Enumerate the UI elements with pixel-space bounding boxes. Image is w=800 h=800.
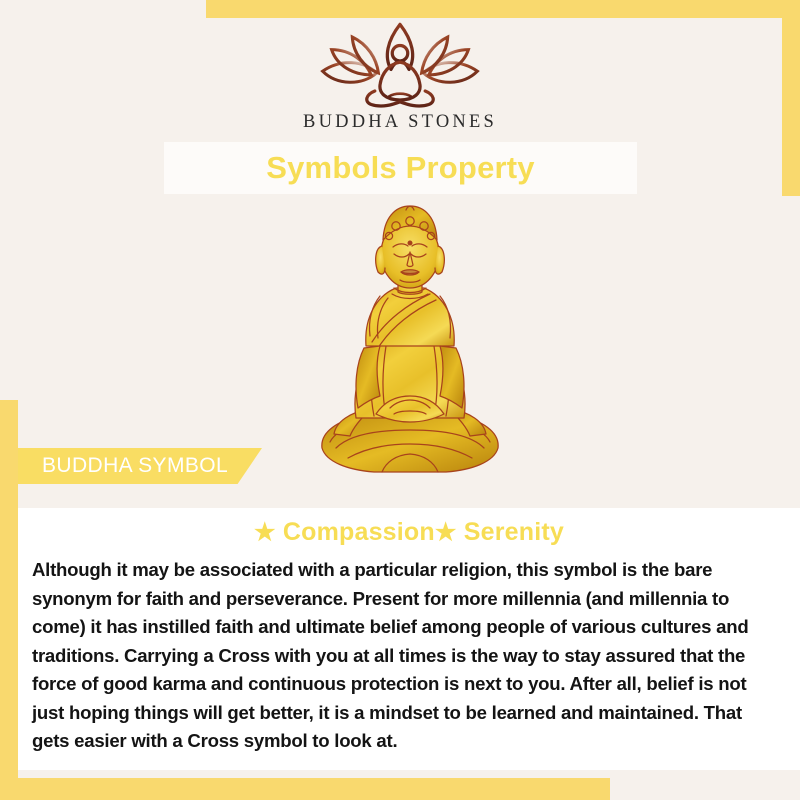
- description-paragraph: Although it may be associated with a par…: [32, 556, 782, 756]
- title-banner: Symbols Property: [164, 142, 637, 194]
- star-icon-right: ★: [435, 519, 457, 546]
- attribute-compassion: Compassion: [283, 518, 435, 546]
- buddha-illustration: [290, 196, 530, 496]
- star-icon-left: ★: [254, 519, 276, 546]
- brand-logo: BUDDHA STONES: [0, 18, 800, 133]
- attributes-subtitle: ★ Compassion★ Serenity: [18, 518, 800, 547]
- attribute-serenity: Serenity: [464, 518, 564, 546]
- poster-root: BUDDHA STONES Symbols Property: [0, 0, 800, 800]
- lotus-meditation-icon: [310, 18, 490, 110]
- content-panel: ★ Compassion★ Serenity Although it may b…: [18, 508, 800, 770]
- brand-name: BUDDHA STONES: [0, 112, 800, 133]
- section-ribbon-label: BUDDHA SYMBOL: [42, 454, 228, 478]
- page-title: Symbols Property: [266, 150, 535, 186]
- section-ribbon: BUDDHA SYMBOL: [18, 448, 262, 484]
- frame-accent-left: [0, 400, 18, 800]
- frame-accent-top: [206, 0, 800, 18]
- seated-golden-buddha-icon: [290, 196, 530, 496]
- frame-accent-bottom: [0, 778, 610, 800]
